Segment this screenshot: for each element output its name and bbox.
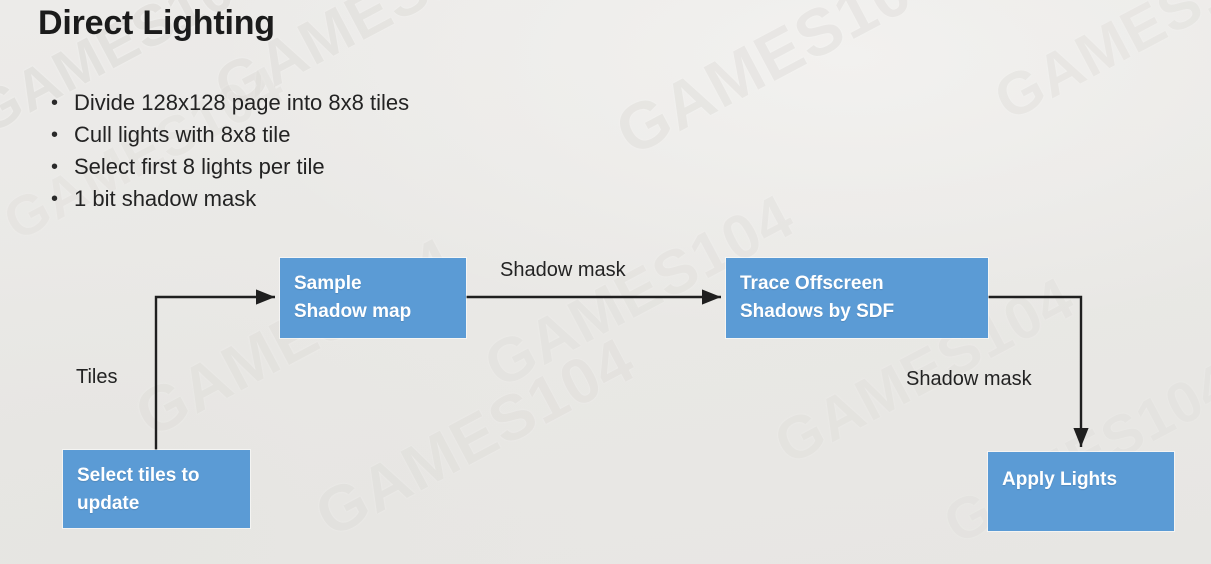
flow-node-label: Trace Offscreen Shadows by SDF — [740, 270, 974, 326]
flow-node-label: Select tiles to update — [77, 462, 236, 518]
slide-canvas: GAMES104 GAMES104 GAMES104 GAMES104 GAME… — [0, 0, 1211, 564]
edge-label-tiles: Tiles — [76, 366, 117, 389]
flow-node-label: Apply Lights — [1002, 464, 1160, 494]
flow-node-label: Sample Shadow map — [294, 270, 452, 326]
edge-label-shadow-mask-right: Shadow mask — [906, 368, 1032, 391]
flow-node-trace-offscreen-shadows[interactable]: Trace Offscreen Shadows by SDF — [726, 258, 988, 338]
flow-node-select-tiles[interactable]: Select tiles to update — [63, 450, 250, 528]
flow-diagram: Sample Shadow map Trace Offscreen Shadow… — [0, 0, 1211, 564]
flow-node-apply-lights[interactable]: Apply Lights — [988, 452, 1174, 531]
edge-label-shadow-mask-top: Shadow mask — [500, 259, 626, 282]
edge-select-to-sample — [156, 297, 275, 450]
flow-node-sample-shadow-map[interactable]: Sample Shadow map — [280, 258, 466, 338]
